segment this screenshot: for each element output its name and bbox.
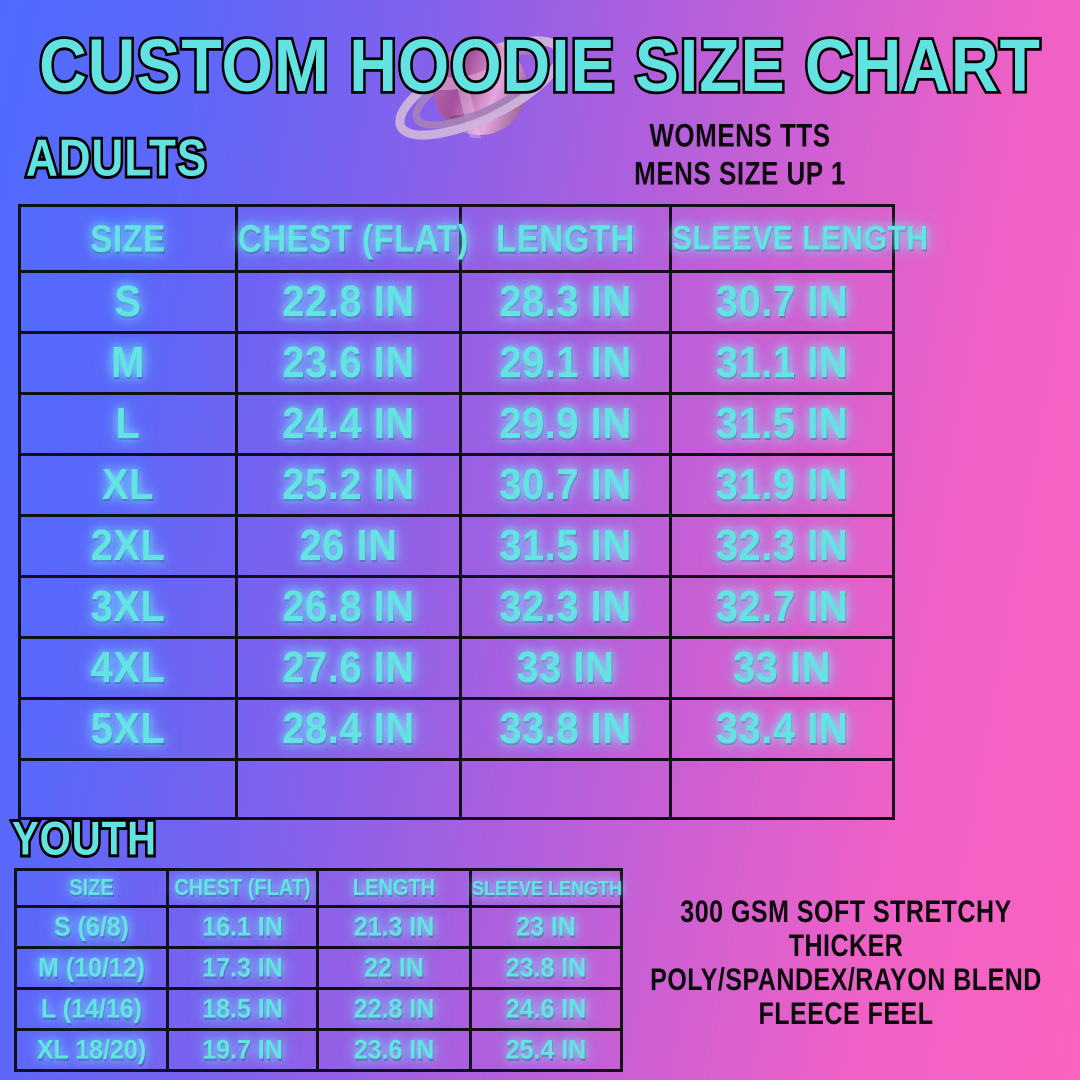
cell-sleeve-length-text: 31.1 IN [716,339,848,388]
youth-size-table: SIZE CHEST (FLAT) LENGTH SLEEVE LENGTH S… [14,868,623,1072]
cell-chest: 16.1 IN [168,907,318,948]
fabric-note: 300 GSM SOFT STRETCHY THICKER POLY/SPAND… [620,895,1072,1031]
cell-sleeve-length [671,760,894,819]
cell-sleeve-length: 30.7 IN [671,272,894,333]
cell-size-text: S (6/8) [54,911,129,942]
cell-size-text: M [111,339,145,388]
cell-chest: 25.2 IN [237,455,461,516]
cell-length-text: 22 IN [364,952,424,983]
cell-size: 5XL [20,699,237,760]
cell-sleeve-length: 25.4 IN [471,1030,622,1071]
cell-sleeve-length-text: 33 IN [733,644,831,693]
cell-size: XL [20,455,237,516]
cell-size-text: L (14/16) [41,993,142,1024]
cell-chest: 26.8 IN [237,577,461,638]
cell-size: M [20,333,237,394]
column-header-sleeve-length-text: SLEEVE LENGTH [672,219,929,258]
column-header-chest-text: CHEST (FLAT) [238,217,469,261]
cell-length: 33 IN [461,638,671,699]
cell-sleeve-length: 32.3 IN [671,516,894,577]
table-row: XL 18/20) 19.7 IN 23.6 IN 25.4 IN [16,1030,622,1071]
cell-sleeve-length: 31.1 IN [671,333,894,394]
table-row: 4XL 27.6 IN 33 IN 33 IN [20,638,894,699]
column-header-size: SIZE [16,870,168,907]
cell-sleeve-length: 33 IN [671,638,894,699]
cell-length-text: 29.1 IN [499,339,631,388]
cell-length: 22 IN [318,948,471,989]
cell-sleeve-length: 33.4 IN [671,699,894,760]
cell-chest: 22.8 IN [237,272,461,333]
table-row: M 23.6 IN 29.1 IN 31.1 IN [20,333,894,394]
cell-length-text: 31.5 IN [499,522,631,571]
cell-chest [237,760,461,819]
cell-size-text: M (10/12) [38,952,145,983]
cell-length-text: 33 IN [516,644,614,693]
cell-chest-text: 22.8 IN [282,278,414,327]
column-header-length: LENGTH [461,206,671,272]
cell-chest: 18.5 IN [168,989,318,1030]
cell-sleeve-length-text: 31.5 IN [716,400,848,449]
adults-section-label: ADULTS [26,130,207,189]
cell-size-text: XL [102,461,154,510]
cell-size-text: 2XL [91,522,166,571]
cell-length-text: 32.3 IN [499,583,631,632]
table-row: L (14/16) 18.5 IN 22.8 IN 24.6 IN [16,989,622,1030]
column-header-length-text: LENGTH [496,217,635,261]
column-header-chest-text: CHEST (FLAT) [174,875,310,901]
cell-size-text: XL 18/20) [37,1034,146,1065]
cell-sleeve-length-text: 32.3 IN [716,522,848,571]
cell-sleeve-length-text: 30.7 IN [716,278,848,327]
cell-size-text: 3XL [91,583,166,632]
cell-length: 33.8 IN [461,699,671,760]
fit-note: WOMENS TTS MENS SIZE UP 1 [545,116,935,192]
cell-chest-text: 26.8 IN [282,583,414,632]
cell-chest-text: 27.6 IN [282,644,414,693]
cell-size-text: S [114,278,141,327]
cell-length-text: 23.6 IN [354,1034,435,1065]
table-row: XL 25.2 IN 30.7 IN 31.9 IN [20,455,894,516]
table-row: M (10/12) 17.3 IN 22 IN 23.8 IN [16,948,622,989]
cell-chest: 24.4 IN [237,394,461,455]
fit-note-line: MENS SIZE UP 1 [545,149,935,197]
cell-sleeve-length-text: 33.4 IN [716,705,848,754]
cell-size-text: 5XL [91,705,166,754]
cell-size [20,760,237,819]
cell-length: 32.3 IN [461,577,671,638]
cell-size: L [20,394,237,455]
column-header-sleeve-length: SLEEVE LENGTH [471,870,622,907]
column-header-size-text: SIZE [69,875,113,901]
cell-size-text: L [116,400,141,449]
cell-length-text: 22.8 IN [354,993,435,1024]
cell-chest: 27.6 IN [237,638,461,699]
cell-chest-text: 17.3 IN [202,952,283,983]
column-header-chest: CHEST (FLAT) [237,206,461,272]
cell-chest: 28.4 IN [237,699,461,760]
cell-size: S [20,272,237,333]
adults-size-table: SIZE CHEST (FLAT) LENGTH SLEEVE LENGTH S… [18,204,895,820]
cell-sleeve-length-text: 32.7 IN [716,583,848,632]
cell-length-text: 28.3 IN [499,278,631,327]
cell-chest: 26 IN [237,516,461,577]
cell-sleeve-length: 31.5 IN [671,394,894,455]
column-header-size: SIZE [20,206,237,272]
cell-size: 2XL [20,516,237,577]
cell-chest: 17.3 IN [168,948,318,989]
table-row: 5XL 28.4 IN 33.8 IN 33.4 IN [20,699,894,760]
cell-chest-text: 23.6 IN [282,339,414,388]
cell-chest: 19.7 IN [168,1030,318,1071]
cell-chest-text: 16.1 IN [202,911,283,942]
fabric-note-line: FLEECE FEEL [620,993,1072,1036]
cell-sleeve-length: 32.7 IN [671,577,894,638]
cell-sleeve-length-text: 24.6 IN [506,993,587,1024]
cell-sleeve-length: 23.8 IN [471,948,622,989]
column-header-sleeve-length-text: SLEEVE LENGTH [472,876,622,900]
cell-length-text: 29.9 IN [499,400,631,449]
table-row: S 22.8 IN 28.3 IN 30.7 IN [20,272,894,333]
cell-chest-text: 25.2 IN [282,461,414,510]
page-title: CUSTOM HOODIE SIZE CHART [0,26,1080,104]
column-header-size-text: SIZE [90,217,165,261]
cell-size: S (6/8) [16,907,168,948]
cell-length: 28.3 IN [461,272,671,333]
cell-sleeve-length: 24.6 IN [471,989,622,1030]
cell-sleeve-length-text: 31.9 IN [716,461,848,510]
cell-length-text: 33.8 IN [499,705,631,754]
cell-length: 31.5 IN [461,516,671,577]
cell-size: 4XL [20,638,237,699]
column-header-sleeve-length: SLEEVE LENGTH [671,206,894,272]
column-header-chest: CHEST (FLAT) [168,870,318,907]
cell-size: 3XL [20,577,237,638]
cell-sleeve-length-text: 23 IN [516,911,576,942]
cell-sleeve-length: 31.9 IN [671,455,894,516]
youth-section-label: YOUTH [12,812,157,866]
cell-sleeve-length-text: 25.4 IN [506,1034,587,1065]
table-row: L 24.4 IN 29.9 IN 31.5 IN [20,394,894,455]
cell-chest-text: 24.4 IN [282,400,414,449]
cell-length: 30.7 IN [461,455,671,516]
cell-length: 29.1 IN [461,333,671,394]
cell-size: L (14/16) [16,989,168,1030]
cell-size-text: 4XL [91,644,166,693]
cell-size: XL 18/20) [16,1030,168,1071]
table-header-row: SIZE CHEST (FLAT) LENGTH SLEEVE LENGTH [20,206,894,272]
cell-sleeve-length-text: 23.8 IN [506,952,587,983]
cell-size: M (10/12) [16,948,168,989]
cell-chest: 23.6 IN [237,333,461,394]
table-row: S (6/8) 16.1 IN 21.3 IN 23 IN [16,907,622,948]
column-header-length: LENGTH [318,870,471,907]
table-header-row: SIZE CHEST (FLAT) LENGTH SLEEVE LENGTH [16,870,622,907]
cell-length: 22.8 IN [318,989,471,1030]
cell-chest-text: 19.7 IN [202,1034,283,1065]
cell-length: 29.9 IN [461,394,671,455]
cell-chest-text: 26 IN [299,522,397,571]
table-row-empty [20,760,894,819]
cell-chest-text: 28.4 IN [282,705,414,754]
table-row: 2XL 26 IN 31.5 IN 32.3 IN [20,516,894,577]
table-row: 3XL 26.8 IN 32.3 IN 32.7 IN [20,577,894,638]
cell-length: 21.3 IN [318,907,471,948]
cell-chest-text: 18.5 IN [202,993,283,1024]
cell-sleeve-length: 23 IN [471,907,622,948]
cell-length-text: 30.7 IN [499,461,631,510]
cell-length-text: 21.3 IN [354,911,435,942]
cell-length [461,760,671,819]
column-header-length-text: LENGTH [353,875,435,901]
cell-length: 23.6 IN [318,1030,471,1071]
